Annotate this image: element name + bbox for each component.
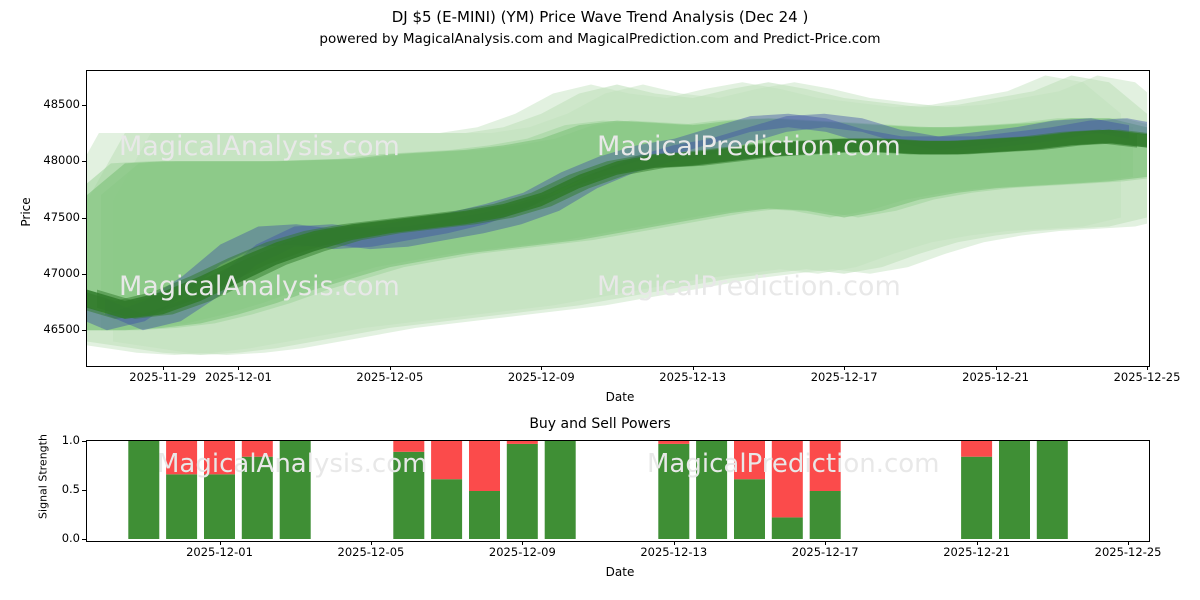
buy-sell-svg: [87, 441, 1147, 539]
top-x-tick: 2025-12-13: [648, 370, 738, 384]
top-y-tick: 46500: [34, 322, 80, 336]
bottom-y-tick: 1.0: [40, 433, 80, 447]
top-x-tickmark: [1147, 366, 1148, 370]
top-y-axis-label: Price: [19, 182, 33, 242]
bottom-x-tick: 2025-12-05: [326, 545, 416, 559]
top-x-tick: 2025-12-05: [345, 370, 435, 384]
bottom-x-tick: 2025-12-13: [629, 545, 719, 559]
bottom-y-tickmark: [82, 490, 86, 491]
top-x-tickmark: [996, 366, 997, 370]
page-subtitle: powered by MagicalAnalysis.com and Magic…: [0, 31, 1200, 47]
bottom-x-tickmark: [977, 541, 978, 545]
top-x-tickmark: [238, 366, 239, 370]
top-x-tick: 2025-12-17: [799, 370, 889, 384]
buy-sell-chart: MagicalAnalysis.com MagicalPrediction.co…: [86, 440, 1150, 542]
top-y-tick: 47000: [34, 266, 80, 280]
top-x-tickmark: [693, 366, 694, 370]
bottom-x-tickmark: [674, 541, 675, 545]
bottom-y-tick: 0.0: [40, 531, 80, 545]
bottom-y-tick: 0.5: [40, 482, 80, 496]
top-y-tickmark: [82, 330, 86, 331]
bottom-x-tickmark: [220, 541, 221, 545]
bottom-x-tickmark: [522, 541, 523, 545]
top-y-tick: 47500: [34, 210, 80, 224]
price-wave-chart: MagicalAnalysis.com MagicalPrediction.co…: [86, 70, 1150, 367]
top-x-tick: 2025-12-01: [193, 370, 283, 384]
page-title: DJ $5 (E-MINI) (YM) Price Wave Trend Ana…: [0, 8, 1200, 26]
bottom-x-tickmark: [825, 541, 826, 545]
top-y-tickmark: [82, 105, 86, 106]
bottom-x-tick: 2025-12-01: [175, 545, 265, 559]
bottom-x-tickmark: [1128, 541, 1129, 545]
bottom-x-tick: 2025-12-21: [932, 545, 1022, 559]
top-x-tick: 2025-12-25: [1102, 370, 1192, 384]
top-y-tick: 48500: [34, 97, 80, 111]
top-x-tick: 2025-12-21: [951, 370, 1041, 384]
top-y-tickmark: [82, 218, 86, 219]
top-x-tickmark: [163, 366, 164, 370]
top-y-tickmark: [82, 274, 86, 275]
price-wave-svg: [87, 71, 1147, 364]
bottom-x-tick: 2025-12-09: [477, 545, 567, 559]
top-x-axis-label: Date: [560, 390, 680, 404]
top-x-tickmark: [844, 366, 845, 370]
bottom-x-axis-label: Date: [560, 565, 680, 579]
bottom-y-tickmark: [82, 539, 86, 540]
bottom-x-tickmark: [371, 541, 372, 545]
bottom-x-tick: 2025-12-17: [780, 545, 870, 559]
top-y-tickmark: [82, 161, 86, 162]
bottom-y-tickmark: [82, 441, 86, 442]
top-x-tickmark: [541, 366, 542, 370]
top-y-tick: 48000: [34, 153, 80, 167]
bottom-x-tick: 2025-12-25: [1083, 545, 1173, 559]
buy-sell-title: Buy and Sell Powers: [0, 416, 1200, 432]
top-x-tick: 2025-12-09: [496, 370, 586, 384]
top-x-tickmark: [390, 366, 391, 370]
